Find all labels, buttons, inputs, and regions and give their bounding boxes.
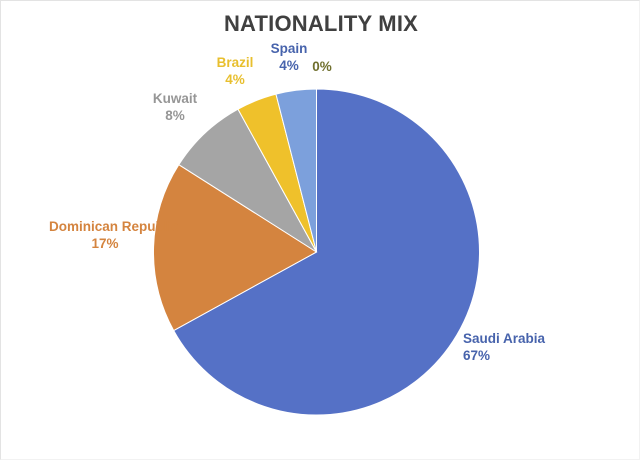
data-label-spain-name: Spain (253, 41, 325, 58)
data-label-dominican-republic-name: Dominican Republic (49, 219, 161, 236)
data-label-kuwait-percent: 8% (129, 108, 221, 125)
pie-slice-group (153, 89, 479, 415)
data-label-zero-percent-slice: 0% (301, 59, 343, 76)
data-label-saudi-arabia-name: Saudi Arabia (463, 331, 545, 348)
data-label-dominican-republic-percent: 17% (49, 236, 161, 253)
data-label-saudi-arabia: Saudi Arabia 67% (463, 331, 545, 365)
pie-chart-container: NATIONALITY MIX Saudi Arabia 67% Dominic… (0, 0, 640, 460)
data-label-kuwait-name: Kuwait (129, 91, 221, 108)
data-label-kuwait: Kuwait 8% (129, 91, 221, 125)
data-label-dominican-republic: Dominican Republic 17% (49, 219, 161, 253)
data-label-saudi-arabia-percent: 67% (463, 348, 545, 365)
data-label-zero-percent: 0% (301, 59, 343, 76)
